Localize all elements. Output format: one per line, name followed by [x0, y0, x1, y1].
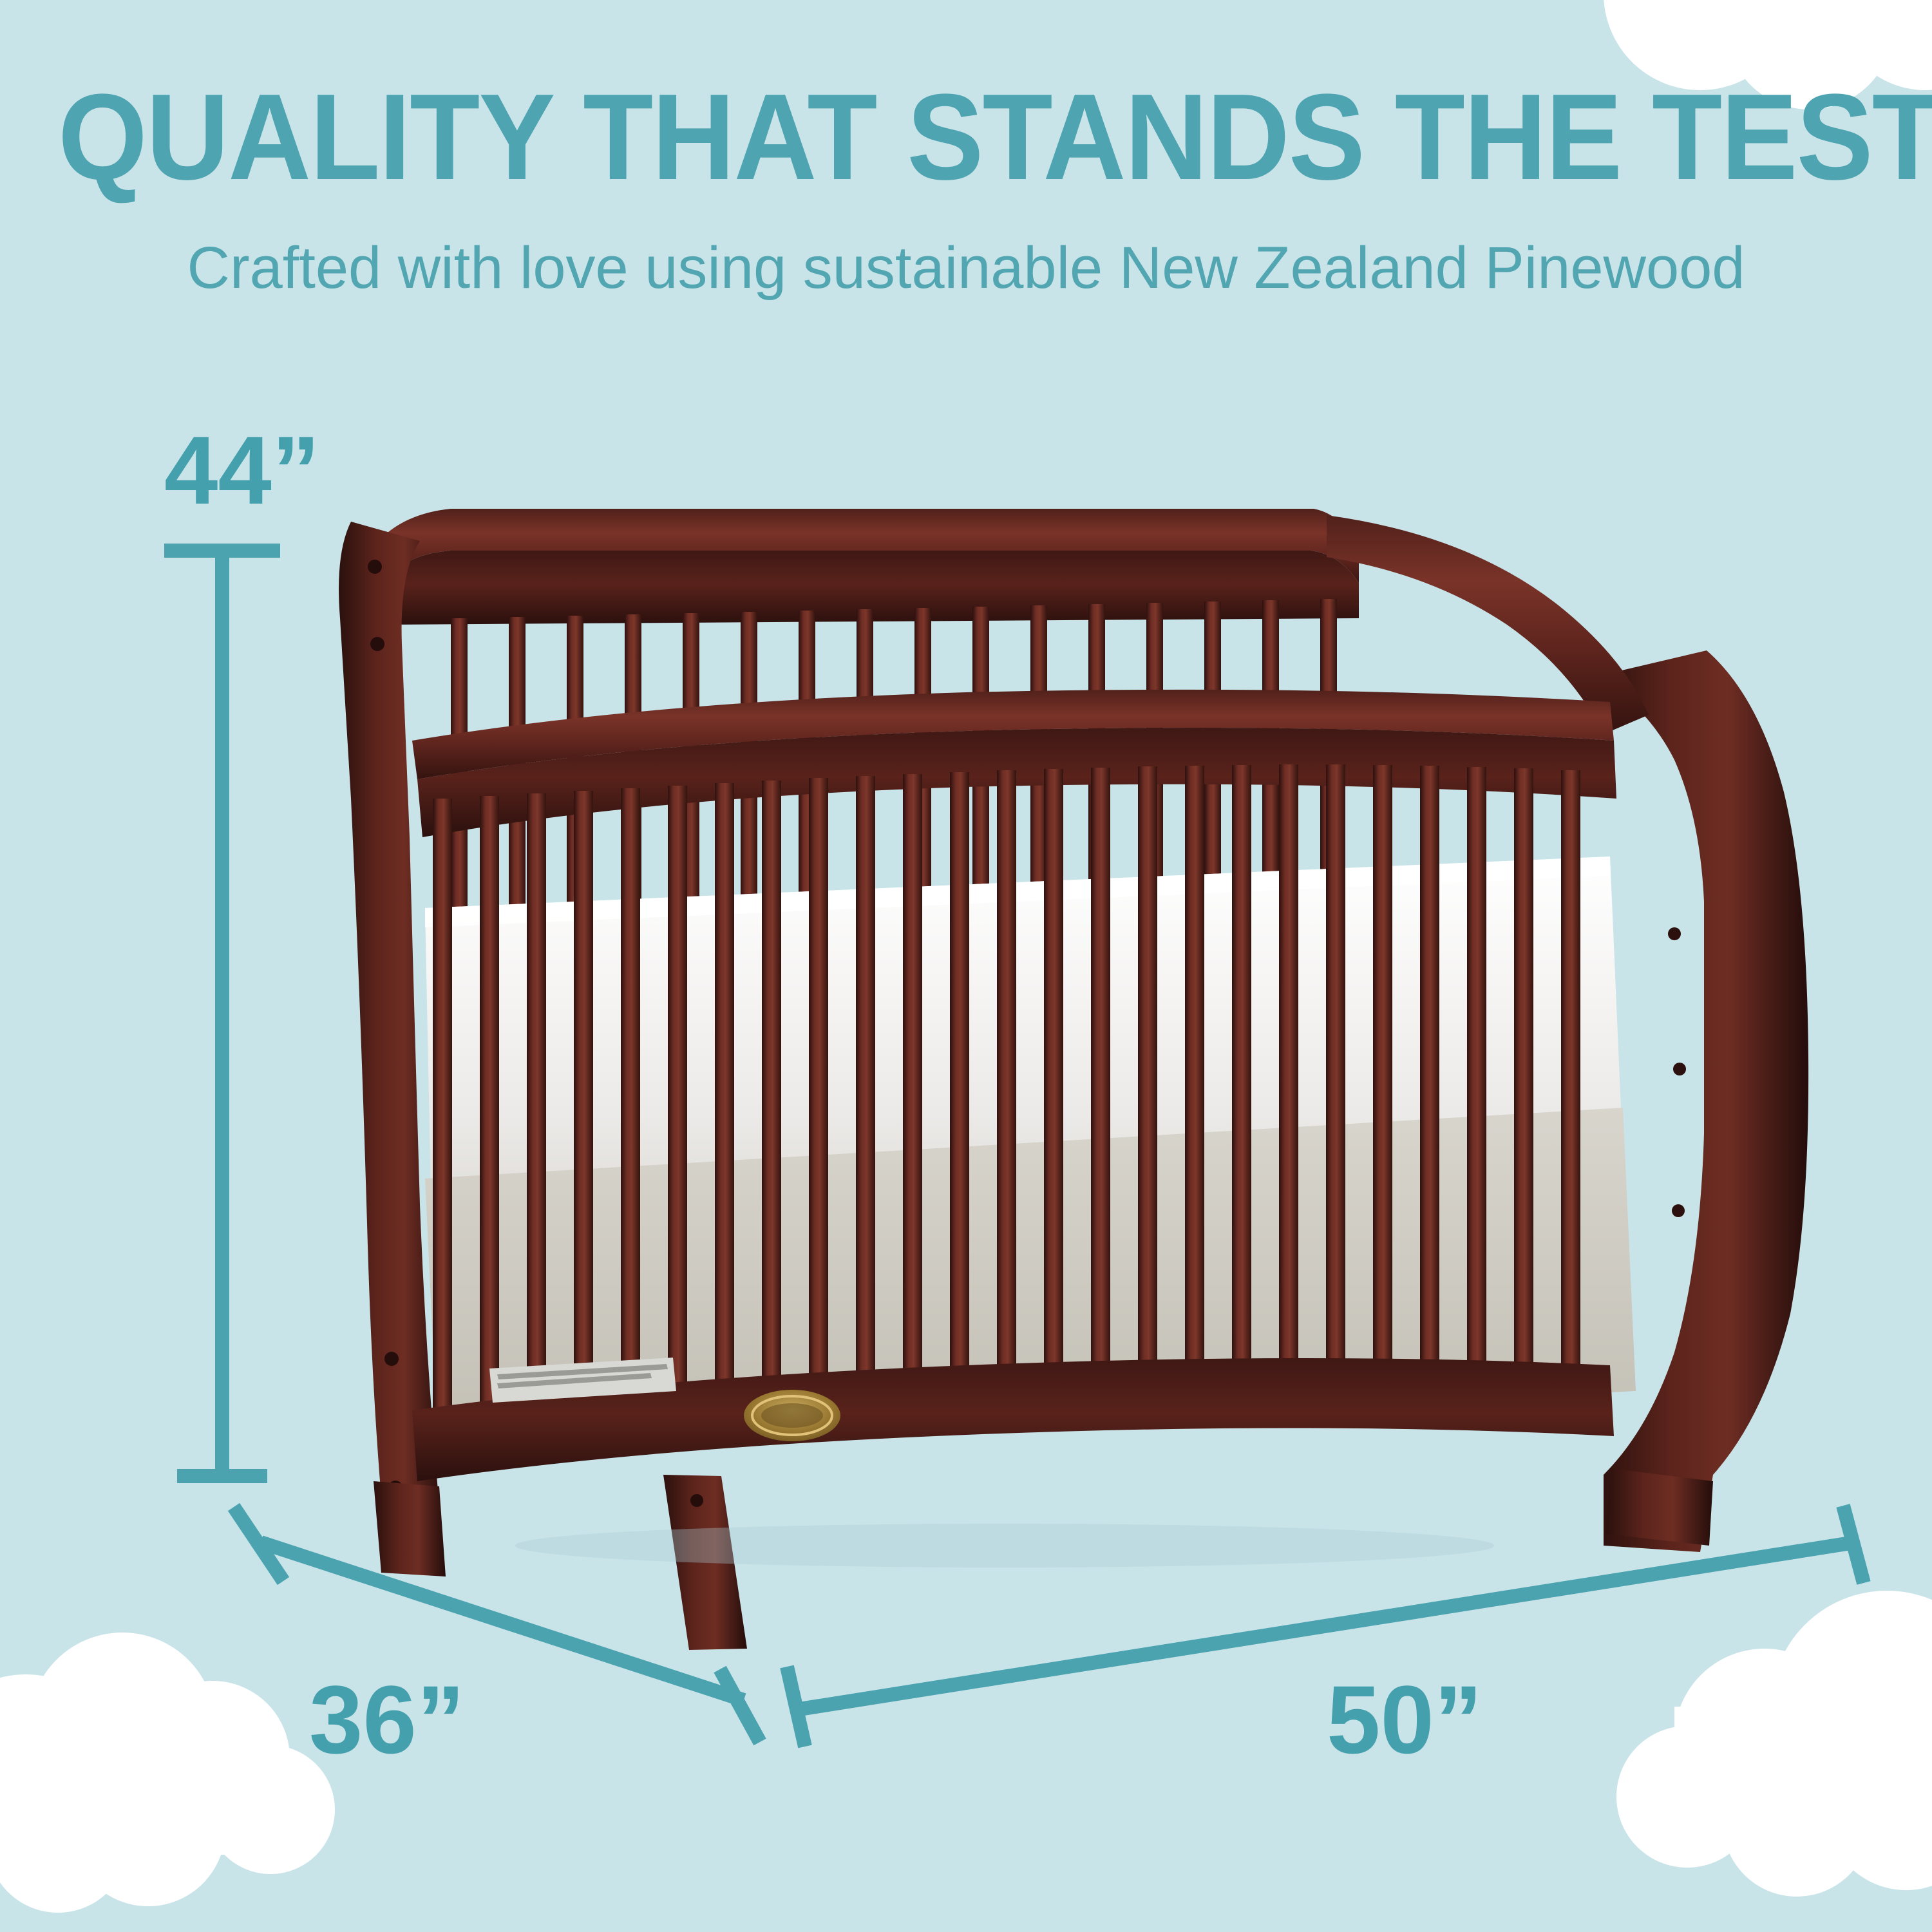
crib-illustration — [339, 509, 1808, 1650]
depth-dimension-label: 36” — [309, 1671, 465, 1768]
page-title: QUALITY THAT STANDS THE TEST OF TIME — [58, 76, 1874, 198]
height-dimension-label: 44” — [164, 422, 320, 518]
right-end-panel — [1597, 650, 1808, 1552]
height-dimension-line — [164, 544, 280, 1481]
cloud-bottom-right-icon — [1616, 1591, 1932, 1897]
infographic-canvas: QUALITY THAT STANDS THE TEST OF TIME Cra… — [0, 0, 1932, 1932]
page-subtitle: Crafted with love using sustainable New … — [0, 238, 1932, 298]
brand-badge-icon — [744, 1390, 840, 1441]
width-dimension-label: 50” — [1327, 1671, 1482, 1768]
cloud-bottom-left-icon — [0, 1633, 335, 1913]
